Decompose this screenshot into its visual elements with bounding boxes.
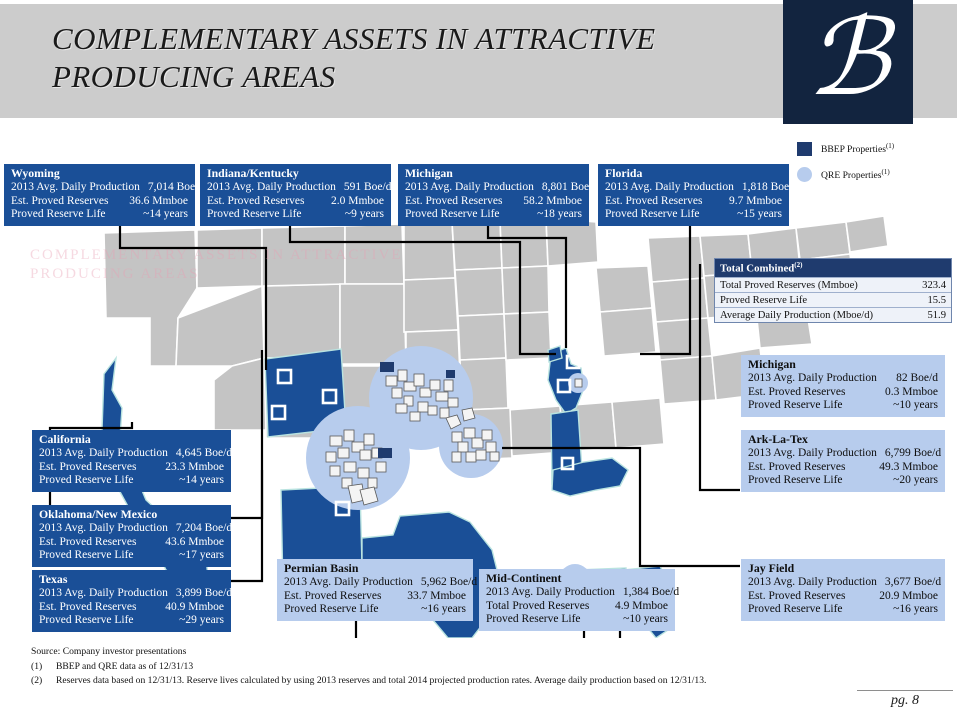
info-box-row: Proved Reserve Life~18 years [405, 208, 582, 222]
info-row-value: 33.7 Mmboe [407, 590, 466, 604]
info-box-ark-la-tex: Ark-La-Tex2013 Avg. Daily Production6,79… [741, 430, 945, 492]
info-row-label: 2013 Avg. Daily Production [207, 181, 344, 195]
info-row-label: Est. Proved Reserves [39, 536, 144, 550]
info-box-title: Ark-La-Tex [748, 433, 938, 447]
footnote-2-num: (2) [31, 674, 56, 689]
info-box-jay-field: Jay Field2013 Avg. Daily Production3,677… [741, 559, 945, 621]
info-row-value: ~17 years [179, 549, 224, 563]
legend-label-bbep: BBEP Properties [821, 145, 886, 156]
info-row-label: Proved Reserve Life [207, 208, 310, 222]
total-combined-note: (2) [794, 261, 802, 269]
info-box-title: Mid-Continent [486, 572, 668, 586]
info-box-row: Proved Reserve Life~9 years [207, 208, 384, 222]
info-box-title: Michigan [405, 167, 582, 181]
info-row-value: ~20 years [893, 474, 938, 488]
info-box-row: Proved Reserve Life~15 years [605, 208, 782, 222]
info-row-label: 2013 Avg. Daily Production [405, 181, 542, 195]
total-combined-row: Total Proved Reserves (Mmboe)323.4 [715, 277, 951, 292]
info-box-row: Proved Reserve Life~17 years [39, 549, 224, 563]
info-row-value: 3,899 Boe/d [176, 587, 232, 601]
info-row-value: ~9 years [345, 208, 384, 222]
info-row-value: 58.2 Mmboe [523, 195, 582, 209]
bbep-swatch-icon [797, 142, 812, 156]
footnote-1-text: BBEP and QRE data as of 12/31/13 [56, 660, 193, 675]
info-row-label: Est. Proved Reserves [11, 195, 116, 209]
info-box-row: Est. Proved Reserves58.2 Mmboe [405, 195, 582, 209]
info-row-value: 7,204 Boe/d [176, 522, 232, 536]
info-box-row: Est. Proved Reserves36.6 Mmboe [11, 195, 188, 209]
info-row-value: ~16 years [893, 603, 938, 617]
info-row-value: 2.0 Mmboe [331, 195, 384, 209]
page-title: COMPLEMENTARY ASSETS IN ATTRACTIVE PRODU… [52, 20, 752, 96]
info-row-value: ~18 years [537, 208, 582, 222]
total-combined-table: Total Combined(2) Total Proved Reserves … [714, 258, 952, 323]
info-box-row: Est. Proved Reserves9.7 Mmboe [605, 195, 782, 209]
info-row-value: 36.6 Mmboe [129, 195, 188, 209]
info-row-label: 2013 Avg. Daily Production [486, 586, 623, 600]
info-row-value: 0.3 Mmboe [885, 386, 938, 400]
info-row-label: Proved Reserve Life [748, 603, 851, 617]
info-row-value: 1,818 Boe/d [742, 181, 798, 195]
info-box-row: Est. Proved Reserves20.9 Mmboe [748, 590, 938, 604]
info-box-title: Texas [39, 573, 224, 587]
footer-divider [857, 690, 953, 691]
total-combined-row: Average Daily Production (Mboe/d)51.9 [715, 307, 951, 322]
info-row-value: 4.9 Mmboe [615, 600, 668, 614]
info-box-title: Jay Field [748, 562, 938, 576]
info-row-label: Proved Reserve Life [605, 208, 708, 222]
legend-note-qre: (1) [882, 168, 890, 176]
info-box-title: Florida [605, 167, 782, 181]
info-row-label: 2013 Avg. Daily Production [748, 576, 885, 590]
total-combined-row: Proved Reserve Life15.5 [715, 292, 951, 307]
info-row-label: Total Proved Reserves [486, 600, 597, 614]
info-row-value: 20.9 Mmboe [879, 590, 938, 604]
footnotes: Source: Company investor presentations (… [31, 645, 706, 689]
logo-letter-icon: ℬ [783, 0, 913, 124]
info-box-row: Est. Proved Reserves49.3 Mmboe [748, 461, 938, 475]
info-box-row: Proved Reserve Life~14 years [11, 208, 188, 222]
info-row-value: ~16 years [421, 603, 466, 617]
info-row-value: 9.7 Mmboe [729, 195, 782, 209]
info-row-value: 5,962 Boe/d [421, 576, 477, 590]
info-row-label: 2013 Avg. Daily Production [748, 372, 885, 386]
info-row-value: ~14 years [179, 474, 224, 488]
info-row-value: 8,801 Boe/d [542, 181, 598, 195]
info-box-title: Indiana/Kentucky [207, 167, 384, 181]
info-row-value: 7,014 Boe/d [148, 181, 204, 195]
info-row-value: 23.3 Mmboe [165, 461, 224, 475]
info-row-value: 591 Boe/d [344, 181, 392, 195]
info-row-label: Proved Reserve Life [39, 614, 142, 628]
info-row-value: ~29 years [179, 614, 224, 628]
info-box-california: California2013 Avg. Daily Production4,64… [32, 430, 231, 492]
info-row-value: 49.3 Mmboe [879, 461, 938, 475]
info-box-row: 2013 Avg. Daily Production3,899 Boe/d [39, 587, 224, 601]
info-box-row: 2013 Avg. Daily Production1,384 Boe/d [486, 586, 668, 600]
legend-item-qre: QRE Properties(1) [797, 167, 894, 182]
footnote-2-text: Reserves data based on 12/31/13. Reserve… [56, 674, 706, 689]
info-box-mid-continent: Mid-Continent2013 Avg. Daily Production1… [479, 569, 675, 631]
info-box-title: California [39, 433, 224, 447]
info-row-value: 40.9 Mmboe [165, 601, 224, 615]
company-logo: ℬ [783, 0, 913, 124]
info-box-row: Est. Proved Reserves43.6 Mmboe [39, 536, 224, 550]
legend-item-bbep: BBEP Properties(1) [797, 142, 894, 156]
qre-swatch-icon [797, 167, 812, 182]
total-row-value: 51.9 [927, 310, 946, 321]
page-number: pg. 8 [857, 693, 953, 709]
info-box-row: Est. Proved Reserves0.3 Mmboe [748, 386, 938, 400]
info-box-row: Proved Reserve Life~10 years [486, 613, 668, 627]
info-row-value: 6,799 Boe/d [885, 447, 941, 461]
slide-canvas: COMPLEMENTARY ASSETS IN ATTRACTIVE PRODU… [0, 0, 957, 718]
info-box-row: 2013 Avg. Daily Production1,818 Boe/d [605, 181, 782, 195]
info-box-michigan-qre: Michigan2013 Avg. Daily Production82 Boe… [741, 355, 945, 417]
info-box-row: Proved Reserve Life~16 years [748, 603, 938, 617]
total-row-value: 323.4 [922, 280, 946, 291]
info-row-value: ~10 years [623, 613, 668, 627]
info-row-label: Est. Proved Reserves [405, 195, 510, 209]
map-inactive-states [104, 216, 888, 460]
total-combined-title: Total Combined [720, 263, 794, 275]
info-box-row: Total Proved Reserves4.9 Mmboe [486, 600, 668, 614]
info-box-row: Proved Reserve Life~10 years [748, 399, 938, 413]
total-combined-rows: Total Proved Reserves (Mmboe)323.4Proved… [715, 277, 951, 322]
info-row-label: Proved Reserve Life [748, 399, 851, 413]
info-row-label: Proved Reserve Life [748, 474, 851, 488]
info-box-row: Proved Reserve Life~14 years [39, 474, 224, 488]
info-row-value: 82 Boe/d [896, 372, 938, 386]
info-row-label: Proved Reserve Life [39, 549, 142, 563]
legend-note-bbep: (1) [886, 142, 894, 150]
total-row-label: Proved Reserve Life [720, 295, 807, 306]
info-row-label: Est. Proved Reserves [39, 461, 144, 475]
info-box-row: 2013 Avg. Daily Production82 Boe/d [748, 372, 938, 386]
info-box-row: 2013 Avg. Daily Production4,645 Boe/d [39, 447, 224, 461]
total-combined-header: Total Combined(2) [715, 259, 951, 277]
info-box-row: 2013 Avg. Daily Production7,014 Boe/d [11, 181, 188, 195]
info-box-row: Proved Reserve Life~16 years [284, 603, 466, 617]
total-row-value: 15.5 [927, 295, 946, 306]
footnote-1: (1) BBEP and QRE data as of 12/31/13 [31, 660, 706, 675]
info-box-row: Proved Reserve Life~20 years [748, 474, 938, 488]
info-row-label: Est. Proved Reserves [284, 590, 389, 604]
info-box-row: Est. Proved Reserves2.0 Mmboe [207, 195, 384, 209]
info-row-label: 2013 Avg. Daily Production [39, 522, 176, 536]
footnote-source: Source: Company investor presentations [31, 645, 706, 660]
info-box-indiana-kentucky: Indiana/Kentucky2013 Avg. Daily Producti… [200, 164, 391, 226]
info-box-row: 2013 Avg. Daily Production8,801 Boe/d [405, 181, 582, 195]
info-box-row: Est. Proved Reserves40.9 Mmboe [39, 601, 224, 615]
info-box-title: Michigan [748, 358, 938, 372]
info-row-label: 2013 Avg. Daily Production [11, 181, 148, 195]
info-box-texas: Texas2013 Avg. Daily Production3,899 Boe… [32, 570, 231, 632]
info-row-label: Proved Reserve Life [11, 208, 114, 222]
footnote-1-num: (1) [31, 660, 56, 675]
info-row-label: Est. Proved Reserves [39, 601, 144, 615]
footnote-2: (2) Reserves data based on 12/31/13. Res… [31, 674, 706, 689]
info-box-wyoming: Wyoming2013 Avg. Daily Production7,014 B… [4, 164, 195, 226]
info-row-label: 2013 Avg. Daily Production [605, 181, 742, 195]
info-row-label: Proved Reserve Life [284, 603, 387, 617]
info-row-value: ~15 years [737, 208, 782, 222]
info-box-title: Oklahoma/New Mexico [39, 508, 224, 522]
info-row-value: ~14 years [143, 208, 188, 222]
info-box-florida: Florida2013 Avg. Daily Production1,818 B… [598, 164, 789, 226]
legend-label-qre: QRE Properties [821, 170, 882, 181]
info-box-row: 2013 Avg. Daily Production3,677 Boe/d [748, 576, 938, 590]
info-row-label: Proved Reserve Life [39, 474, 142, 488]
info-box-title: Wyoming [11, 167, 188, 181]
info-box-row: Est. Proved Reserves23.3 Mmboe [39, 461, 224, 475]
info-row-label: Proved Reserve Life [486, 613, 589, 627]
total-row-label: Average Daily Production (Mboe/d) [720, 310, 873, 321]
total-row-label: Total Proved Reserves (Mmboe) [720, 280, 858, 291]
info-row-label: 2013 Avg. Daily Production [39, 447, 176, 461]
info-box-michigan-bbep: Michigan2013 Avg. Daily Production8,801 … [398, 164, 589, 226]
info-row-label: Est. Proved Reserves [748, 461, 853, 475]
info-row-value: 43.6 Mmboe [165, 536, 224, 550]
info-box-title: Permian Basin [284, 562, 466, 576]
info-box-row: 2013 Avg. Daily Production6,799 Boe/d [748, 447, 938, 461]
info-box-row: Est. Proved Reserves33.7 Mmboe [284, 590, 466, 604]
info-box-row: 2013 Avg. Daily Production5,962 Boe/d [284, 576, 466, 590]
info-box-row: Proved Reserve Life~29 years [39, 614, 224, 628]
info-box-oklahoma-new-mexico: Oklahoma/New Mexico2013 Avg. Daily Produ… [32, 505, 231, 567]
info-row-value: 1,384 Boe/d [623, 586, 679, 600]
info-row-label: 2013 Avg. Daily Production [748, 447, 885, 461]
info-row-label: Est. Proved Reserves [748, 386, 853, 400]
info-row-label: Est. Proved Reserves [207, 195, 312, 209]
info-box-permian-basin: Permian Basin2013 Avg. Daily Production5… [277, 559, 473, 621]
info-box-row: 2013 Avg. Daily Production7,204 Boe/d [39, 522, 224, 536]
info-row-label: Est. Proved Reserves [748, 590, 853, 604]
info-row-value: 3,677 Boe/d [885, 576, 941, 590]
info-box-row: 2013 Avg. Daily Production591 Boe/d [207, 181, 384, 195]
info-row-value: ~10 years [893, 399, 938, 413]
info-row-label: Est. Proved Reserves [605, 195, 710, 209]
info-row-label: 2013 Avg. Daily Production [39, 587, 176, 601]
info-row-value: 4,645 Boe/d [176, 447, 232, 461]
info-row-label: 2013 Avg. Daily Production [284, 576, 421, 590]
map-legend: BBEP Properties(1) QRE Properties(1) [797, 142, 894, 193]
info-row-label: Proved Reserve Life [405, 208, 508, 222]
